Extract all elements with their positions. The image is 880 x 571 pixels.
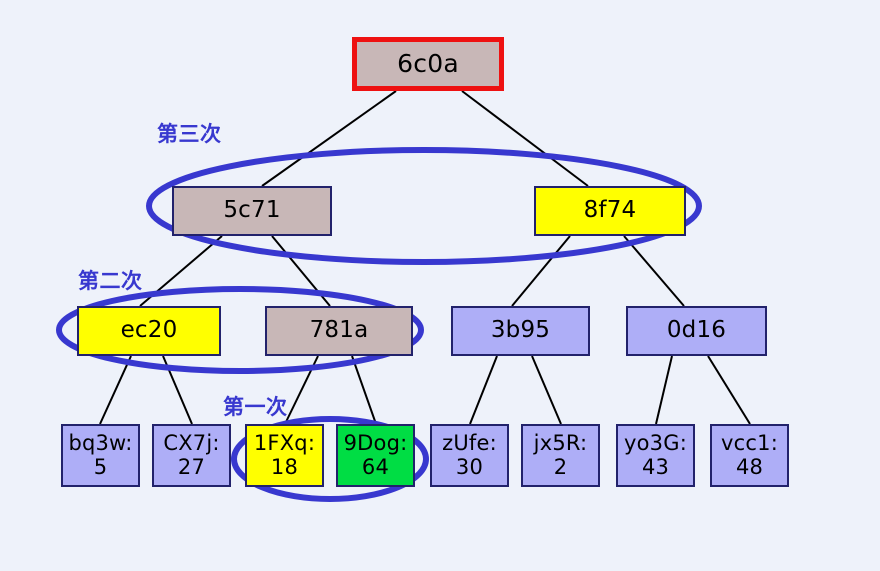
tree-node-leaf7[interactable]: yo3G: 43 <box>616 424 695 487</box>
highlight-label-pass2: 第二次 <box>78 265 143 295</box>
tree-node-l2b[interactable]: 8f74 <box>534 186 686 236</box>
tree-edge <box>285 356 318 424</box>
tree-edge <box>512 236 570 306</box>
tree-edge <box>140 236 222 306</box>
tree-edge <box>262 91 396 186</box>
tree-node-leaf1[interactable]: bq3w: 5 <box>61 424 140 487</box>
tree-edge <box>708 356 750 424</box>
tree-node-leaf8[interactable]: vcc1: 48 <box>710 424 789 487</box>
tree-node-l3d[interactable]: 0d16 <box>626 306 767 356</box>
tree-edge <box>352 356 376 424</box>
tree-node-leaf5[interactable]: zUfe: 30 <box>430 424 509 487</box>
tree-node-leaf3[interactable]: 1FXq: 18 <box>245 424 324 487</box>
tree-node-leaf6[interactable]: jx5R: 2 <box>521 424 600 487</box>
tree-edge <box>532 356 561 424</box>
tree-node-l3c[interactable]: 3b95 <box>451 306 590 356</box>
highlight-label-pass3: 第三次 <box>157 118 222 148</box>
tree-edge <box>624 236 684 306</box>
tree-node-l3b[interactable]: 781a <box>265 306 413 356</box>
highlight-label-pass1: 第一次 <box>223 391 288 421</box>
tree-edge <box>470 356 497 424</box>
tree-diagram-canvas: 6c0a5c718f74ec20781a3b950d16bq3w: 5CX7j:… <box>0 0 880 571</box>
tree-node-l2a[interactable]: 5c71 <box>172 186 332 236</box>
tree-edge <box>100 356 131 424</box>
tree-node-l3a[interactable]: ec20 <box>77 306 221 356</box>
tree-edge <box>272 236 330 306</box>
tree-node-leaf2[interactable]: CX7j: 27 <box>152 424 231 487</box>
tree-edge <box>462 91 588 186</box>
tree-node-leaf4[interactable]: 9Dog: 64 <box>336 424 415 487</box>
tree-edge <box>163 356 192 424</box>
tree-edge <box>656 356 672 424</box>
tree-node-root[interactable]: 6c0a <box>352 37 504 91</box>
